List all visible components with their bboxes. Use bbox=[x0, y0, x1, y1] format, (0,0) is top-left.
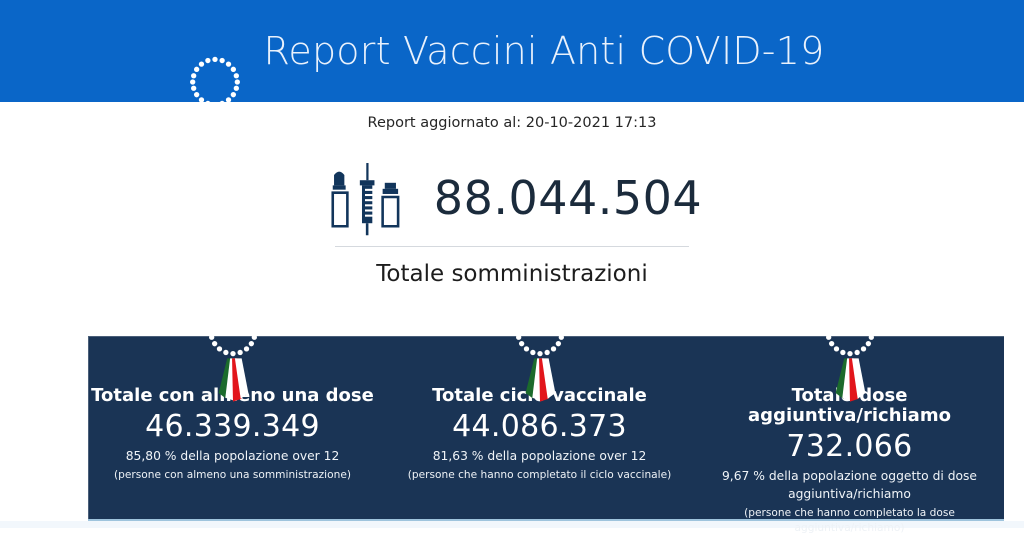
card-percentage: 85,80 % della popolazione over 12 bbox=[80, 448, 385, 466]
stat-card-booster-dose: Totale dose aggiuntiva/richiamo 732.066 … bbox=[697, 300, 1002, 535]
stat-card-first-dose: Totale con almeno una dose 46.339.349 85… bbox=[80, 300, 385, 483]
cockade-pearls-icon bbox=[509, 300, 571, 362]
total-administrations-value: 88.044.504 bbox=[434, 175, 702, 221]
card-note: (persone che hanno completato la dose ag… bbox=[697, 506, 1002, 535]
card-note: (persone con almeno una somministrazione… bbox=[80, 468, 385, 483]
card-emblem-wrap bbox=[697, 300, 1002, 386]
cockade-pearls-icon bbox=[202, 300, 264, 362]
cockade-pearls-icon bbox=[819, 300, 881, 362]
card-percentage: 9,67 % della popolazione oggetto di dose… bbox=[697, 468, 1002, 504]
italian-cockade-icon bbox=[202, 300, 264, 386]
card-value: 732.066 bbox=[697, 428, 1002, 466]
report-updated-text: Report aggiornato al: 20-10-2021 17:13 bbox=[0, 115, 1024, 131]
total-administrations-block: 88.044.504 Totale somministrazioni bbox=[0, 158, 1024, 287]
card-emblem-wrap bbox=[387, 300, 692, 386]
stat-card-full-cycle: Totale ciclo vaccinale 44.086.373 81,63 … bbox=[387, 300, 692, 483]
total-divider bbox=[335, 246, 689, 247]
page-title: Report Vaccini Anti COVID-19 bbox=[264, 32, 825, 70]
italian-cockade-icon bbox=[819, 300, 881, 386]
vaccine-vial-syringe-icon bbox=[322, 163, 408, 237]
header-content: Report Vaccini Anti COVID-19 bbox=[184, 32, 825, 70]
page-header: Report Vaccini Anti COVID-19 bbox=[0, 0, 1024, 102]
cockade-pearls-icon bbox=[184, 51, 246, 113]
total-administrations-label: Totale somministrazioni bbox=[0, 261, 1024, 287]
card-emblem-wrap bbox=[80, 300, 385, 386]
card-note: (persone che hanno completato il ciclo v… bbox=[387, 468, 692, 483]
total-row: 88.044.504 bbox=[0, 158, 1024, 238]
italian-cockade-icon bbox=[509, 300, 571, 386]
card-percentage: 81,63 % della popolazione over 12 bbox=[387, 448, 692, 466]
